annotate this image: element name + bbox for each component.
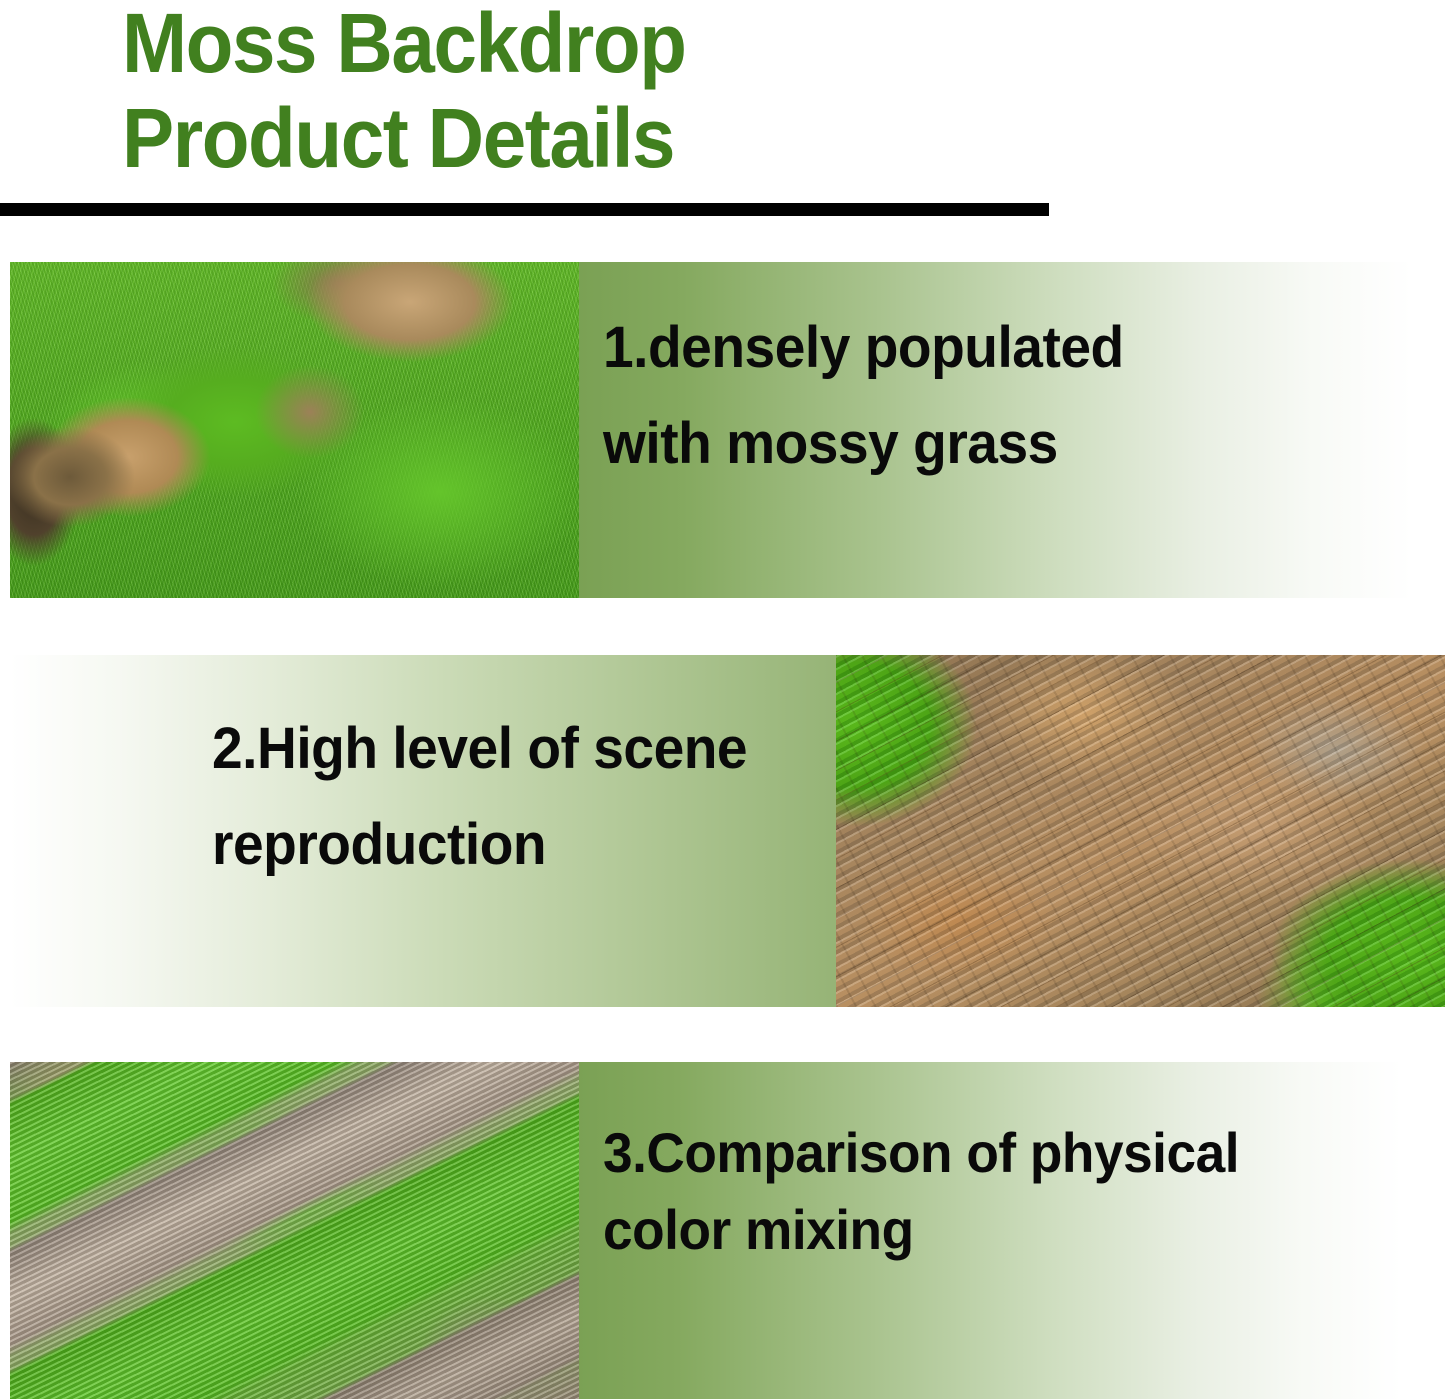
- feature-row-2-caption: 2.High level of scene reproduction: [212, 701, 747, 893]
- product-details-infographic: Moss Backdrop Product Details 1.densely …: [0, 0, 1445, 1399]
- page-title: Moss Backdrop Product Details: [122, 0, 1072, 186]
- feature-row-1: 1.densely populated with mossy grass: [0, 262, 1412, 598]
- feature-row-3: 3.Comparison of physical color mixing: [0, 1062, 1402, 1399]
- page-title-line-1: Moss Backdrop: [122, 0, 1006, 91]
- dense-moss-grass-photo: [10, 262, 579, 598]
- feature-row-1-caption-line-2: with mossy grass: [603, 396, 1124, 492]
- tree-bark-moss-photo-art: [836, 655, 1445, 1007]
- dense-moss-grass-photo-art: [10, 262, 579, 598]
- feature-row-3-caption: 3.Comparison of physical color mixing: [603, 1114, 1239, 1268]
- feature-row-2: 2.High level of scene reproduction: [0, 655, 1445, 1007]
- page-title-line-2: Product Details: [122, 91, 1006, 186]
- feature-row-2-caption-line-2: reproduction: [212, 797, 747, 893]
- bark-branches-moss-photo-art: [10, 1062, 579, 1399]
- feature-row-1-caption: 1.densely populated with mossy grass: [603, 300, 1124, 492]
- feature-row-2-caption-line-1: 2.High level of scene: [212, 701, 747, 797]
- feature-row-3-caption-line-1: 3.Comparison of physical: [603, 1114, 1239, 1191]
- tree-bark-moss-photo: [836, 655, 1445, 1007]
- feature-row-1-caption-line-1: 1.densely populated: [603, 300, 1124, 396]
- bark-branches-moss-photo: [10, 1062, 579, 1399]
- title-divider-rule: [0, 203, 1049, 216]
- feature-row-3-caption-line-2: color mixing: [603, 1191, 1239, 1268]
